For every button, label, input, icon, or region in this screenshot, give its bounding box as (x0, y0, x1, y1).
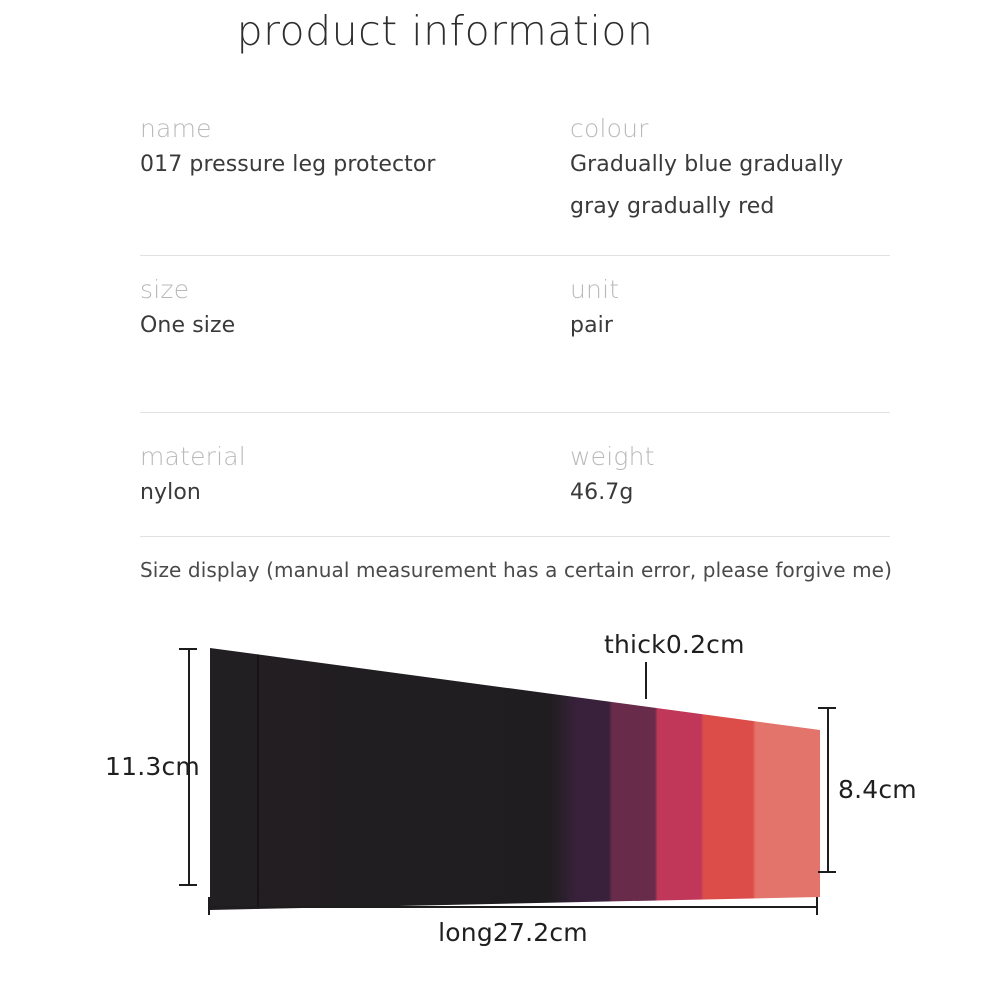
height-left-cap-bottom (179, 884, 197, 886)
spec-label-colour: colour (570, 105, 890, 144)
height-right-cap-bottom (818, 871, 836, 873)
length-cap-right (816, 897, 818, 915)
spec-cell-size: size One size (140, 256, 570, 412)
spec-cell-weight: weight 46.7g (570, 413, 890, 536)
product-diagram: 11.3cm 8.4cm long27.2cm thick0.2cm (0, 620, 1000, 980)
length-bracket (208, 906, 818, 908)
leg-sleeve-svg (208, 645, 820, 915)
spec-cell-unit: unit pair (570, 256, 890, 412)
thickness-leader-line (645, 662, 647, 699)
thickness-label: thick0.2cm (604, 630, 745, 660)
height-right-cap-top (818, 707, 836, 709)
spec-table: name 017 pressure leg protector colour G… (140, 105, 890, 537)
spec-label-unit: unit (570, 256, 890, 305)
spec-value-colour: Gradually blue gradually gray gradually … (570, 144, 890, 228)
spec-label-name: name (140, 105, 570, 144)
size-display-note: Size display (manual measurement has a c… (140, 556, 890, 584)
spec-label-size: size (140, 256, 570, 305)
spec-value-name: 017 pressure leg protector (140, 144, 570, 186)
spec-value-weight: 46.7g (570, 472, 890, 514)
spec-value-size: One size (140, 305, 570, 347)
height-right-bracket (827, 707, 829, 873)
spec-row-name-colour: name 017 pressure leg protector colour G… (140, 105, 890, 256)
page-title: product information (0, 6, 890, 56)
height-right-label: 8.4cm (838, 775, 917, 805)
spec-label-weight: weight (570, 413, 890, 472)
length-cap-left (208, 897, 210, 915)
spec-label-material: material (140, 413, 570, 472)
length-label: long27.2cm (0, 918, 1000, 948)
leg-sleeve-illustration (208, 645, 820, 915)
spec-cell-colour: colour Gradually blue gradually gray gra… (570, 105, 890, 255)
spec-cell-name: name 017 pressure leg protector (140, 105, 570, 255)
spec-row-size-unit: size One size unit pair (140, 256, 890, 413)
spec-value-unit: pair (570, 305, 890, 347)
spec-cell-material: material nylon (140, 413, 570, 536)
spec-value-material: nylon (140, 472, 570, 514)
spec-row-material-weight: material nylon weight 46.7g (140, 413, 890, 537)
sleeve-body (208, 645, 820, 915)
height-left-label: 11.3cm (105, 752, 200, 782)
height-left-cap-top (179, 648, 197, 650)
